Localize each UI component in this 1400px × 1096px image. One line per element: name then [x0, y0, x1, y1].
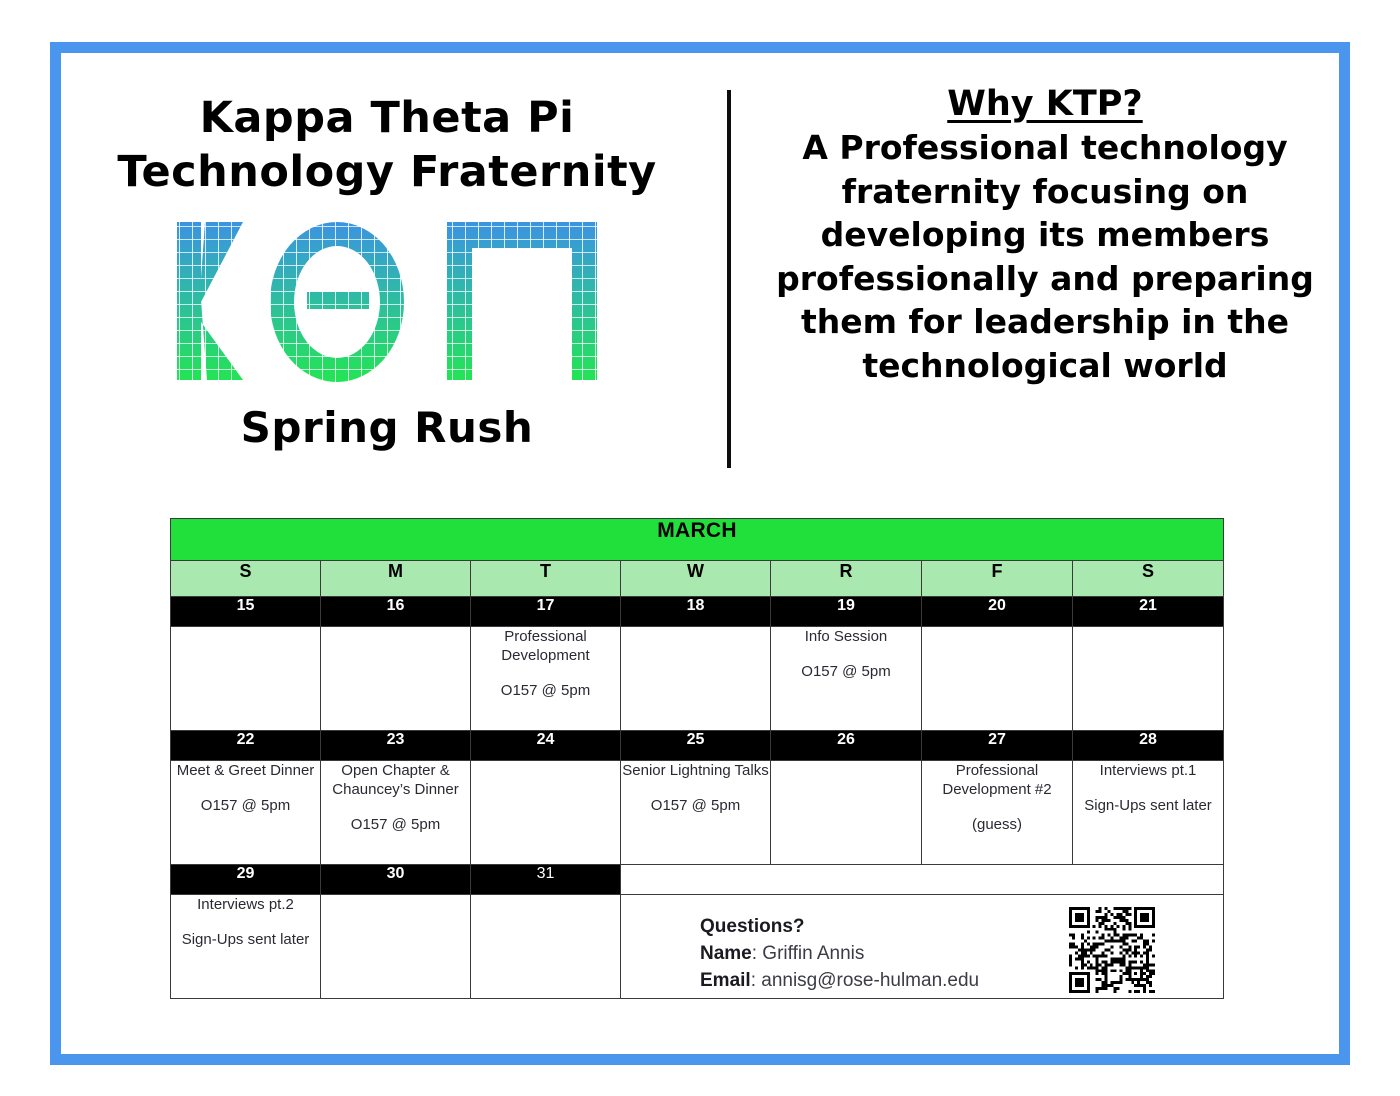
event-cell-16: [321, 627, 471, 731]
dow-saturday: S: [1073, 561, 1224, 597]
event-cell-22: Meet & Greet Dinner O157 @ 5pm: [171, 761, 321, 865]
qr-code-icon: [1069, 907, 1155, 993]
date-25: 25: [621, 731, 771, 761]
org-title-line2: Technology Fraternity: [62, 146, 712, 200]
event-title: Interviews pt.2: [171, 895, 320, 914]
event-location: O157 @ 5pm: [771, 662, 921, 681]
date-15: 15: [171, 597, 321, 627]
poster: Kappa Theta Pi Technology Fraternity: [0, 0, 1400, 1096]
date-30: 30: [321, 865, 471, 895]
date-29: 29: [171, 865, 321, 895]
contact-block: Questions? Name: Griffin Annis Email: an…: [700, 914, 979, 995]
event-cell-19: Info Session O157 @ 5pm: [771, 627, 922, 731]
contact-email-label: Email: [700, 970, 751, 991]
date-22: 22: [171, 731, 321, 761]
dow-sunday: S: [171, 561, 321, 597]
date-row-week3: 29 30 31: [171, 865, 1224, 895]
event-cell-28: Interviews pt.1 Sign-Ups sent later: [1073, 761, 1224, 865]
event-title: Professional Development: [471, 627, 620, 665]
date-23: 23: [321, 731, 471, 761]
contact-email-line: Email: annisg@rose-hulman.edu: [700, 968, 979, 995]
event-location: O157 @ 5pm: [171, 796, 320, 815]
calendar-dow-row: S M T W R F S: [171, 561, 1224, 597]
event-cell-23: Open Chapter & Chauncey’s Dinner O157 @ …: [321, 761, 471, 865]
why-ktp-heading: Why KTP?: [947, 84, 1142, 124]
date-20: 20: [922, 597, 1073, 627]
event-cell-27: Professional Development #2 (guess): [922, 761, 1073, 865]
event-cell-30: [321, 895, 471, 999]
event-location: O157 @ 5pm: [621, 796, 770, 815]
event-title: Interviews pt.1: [1073, 761, 1223, 780]
event-title: Open Chapter & Chauncey’s Dinner: [321, 761, 470, 799]
event-cell-15: [171, 627, 321, 731]
poster-top-section: Kappa Theta Pi Technology Fraternity: [62, 54, 1338, 484]
org-title-line1: Kappa Theta Pi: [62, 92, 712, 146]
event-location: O157 @ 5pm: [321, 815, 470, 834]
dow-wednesday: W: [621, 561, 771, 597]
contact-name-label: Name: [700, 943, 752, 964]
date-31: 31: [471, 865, 621, 895]
why-ktp-column: Why KTP? A Professional technology frate…: [752, 54, 1338, 387]
date-row-week3-empty: [621, 865, 1224, 895]
event-location: Sign-Ups sent later: [1073, 796, 1223, 815]
event-cell-24: [471, 761, 621, 865]
why-ktp-body: A Professional technology fraternity foc…: [752, 126, 1338, 387]
event-title: Info Session: [771, 627, 921, 646]
date-19: 19: [771, 597, 922, 627]
event-location: (guess): [922, 815, 1072, 834]
event-cell-26: [771, 761, 922, 865]
event-cell-17: Professional Development O157 @ 5pm: [471, 627, 621, 731]
event-cell-20: [922, 627, 1073, 731]
event-title: Professional Development #2: [922, 761, 1072, 799]
event-row-week2: Meet & Greet Dinner O157 @ 5pm Open Chap…: [171, 761, 1224, 865]
org-title: Kappa Theta Pi Technology Fraternity: [62, 54, 712, 200]
calendar-month-row: MARCH: [171, 519, 1224, 561]
branding-column: Kappa Theta Pi Technology Fraternity: [62, 54, 712, 484]
dow-thursday: R: [771, 561, 922, 597]
event-row-week3: Interviews pt.2 Sign-Ups sent later: [171, 895, 1224, 999]
date-21: 21: [1073, 597, 1224, 627]
event-cell-21: [1073, 627, 1224, 731]
calendar-month-label: MARCH: [171, 519, 1224, 561]
date-row-week1: 15 16 17 18 19 20 21: [171, 597, 1224, 627]
date-17: 17: [471, 597, 621, 627]
event-cell-29: Interviews pt.2 Sign-Ups sent later: [171, 895, 321, 999]
questions-label: Questions?: [700, 914, 979, 941]
event-cell-18: [621, 627, 771, 731]
event-title: Meet & Greet Dinner: [171, 761, 320, 780]
ktp-logo-svg: [167, 214, 607, 389]
date-16: 16: [321, 597, 471, 627]
dow-monday: M: [321, 561, 471, 597]
date-28: 28: [1073, 731, 1224, 761]
ktp-logo: [62, 214, 712, 389]
date-27: 27: [922, 731, 1073, 761]
date-24: 24: [471, 731, 621, 761]
event-cell-31: [471, 895, 621, 999]
event-location: Sign-Ups sent later: [171, 930, 320, 949]
dow-tuesday: T: [471, 561, 621, 597]
contact-name-value: : Griffin Annis: [752, 943, 865, 964]
column-divider: [727, 90, 731, 468]
date-26: 26: [771, 731, 922, 761]
contact-email-value: : annisg@rose-hulman.edu: [751, 970, 979, 991]
event-title: Senior Lightning Talks: [621, 761, 770, 780]
qr-code[interactable]: [1069, 907, 1155, 993]
spring-rush-subtitle: Spring Rush: [62, 403, 712, 452]
contact-name-line: Name: Griffin Annis: [700, 941, 979, 968]
event-location: O157 @ 5pm: [471, 681, 620, 700]
dow-friday: F: [922, 561, 1073, 597]
event-cell-25: Senior Lightning Talks O157 @ 5pm: [621, 761, 771, 865]
rush-calendar: MARCH S M T W R F S 15 16 17 18 19 20 21: [170, 518, 1224, 999]
event-row-week1: Professional Development O157 @ 5pm Info…: [171, 627, 1224, 731]
date-18: 18: [621, 597, 771, 627]
date-row-week2: 22 23 24 25 26 27 28: [171, 731, 1224, 761]
